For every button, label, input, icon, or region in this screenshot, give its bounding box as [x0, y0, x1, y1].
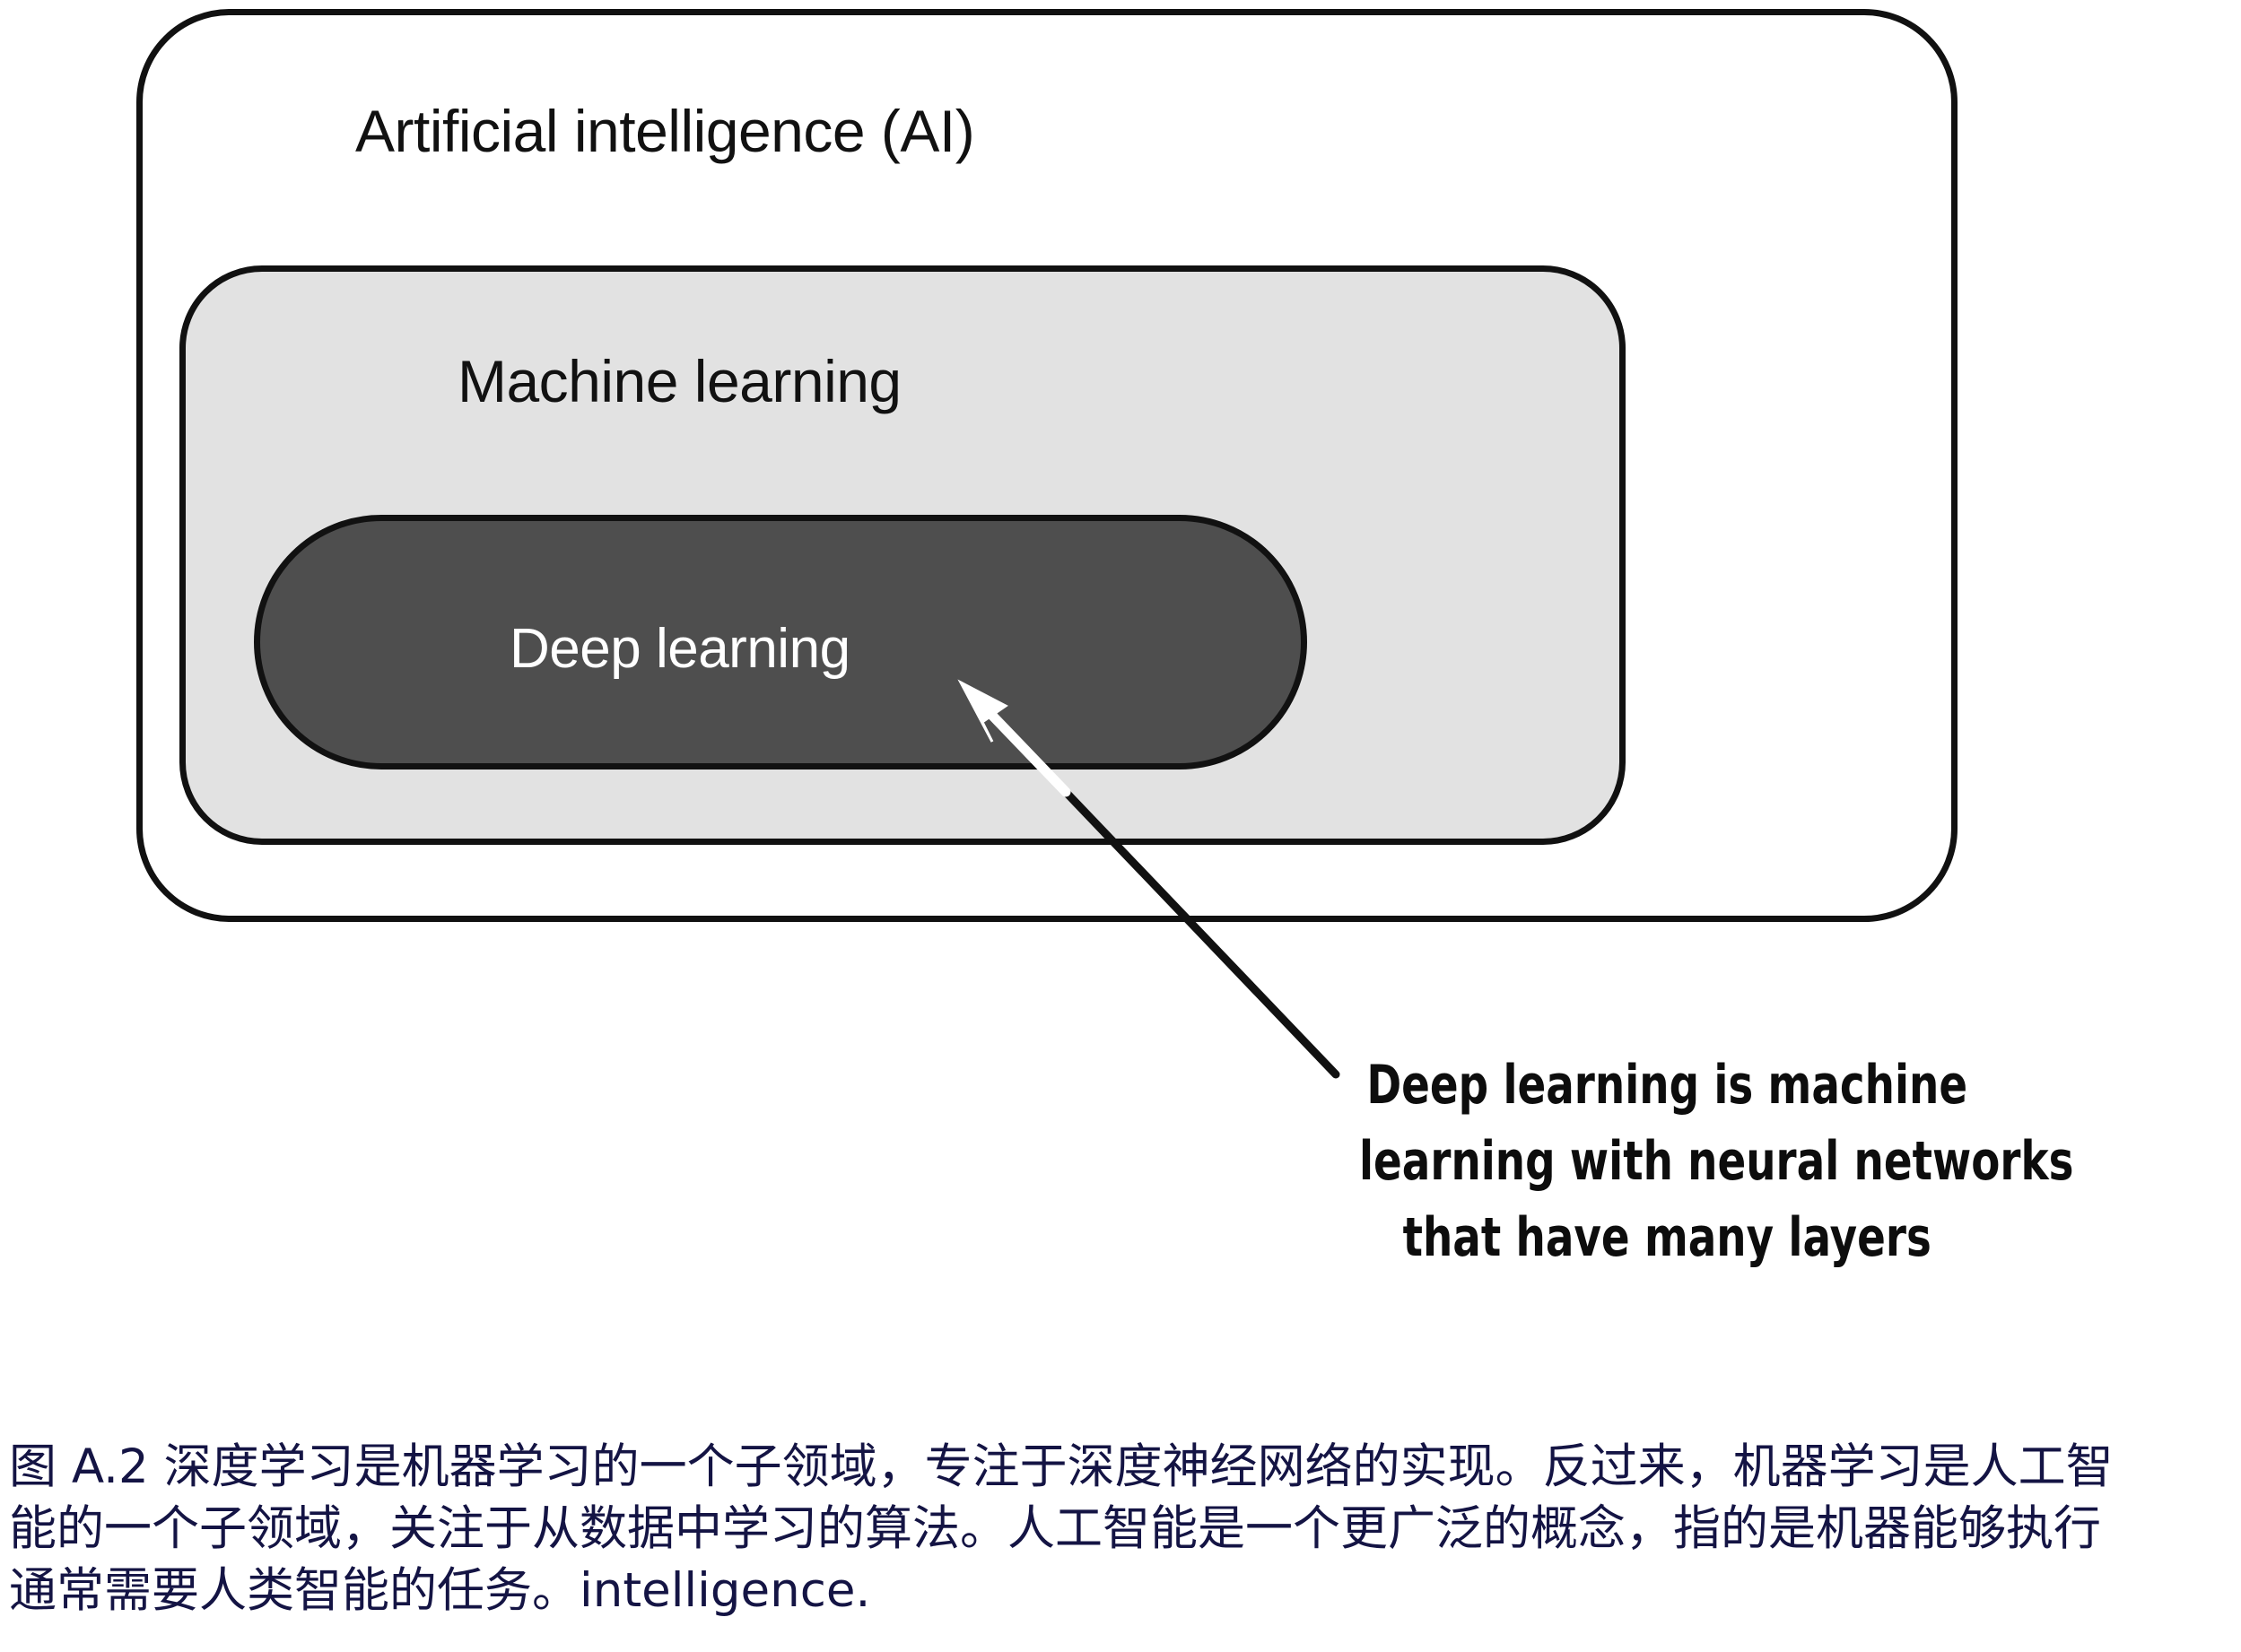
- figure-caption-line-1: 图 A.2 深度学习是机器学习的一个子领域，专注于深度神经网络的实现。反过来，机…: [9, 1437, 2241, 1499]
- callout-note-line-1: Deep learning is machine: [1359, 1048, 1975, 1124]
- label-deep-learning: Deep learning: [510, 617, 850, 681]
- callout-note-line-2: learning with neural networks: [1359, 1124, 1975, 1200]
- callout-note-line-3: that have many layers: [1359, 1200, 1975, 1276]
- figure-caption-line-3: 通常需要人类智能的任务。intelligence.: [9, 1561, 2241, 1622]
- label-machine-learning: Machine learning: [458, 347, 902, 415]
- nested-set-diagram: Artificial intelligence (AI) Machine lea…: [0, 0, 2241, 1345]
- figure-page: Artificial intelligence (AI) Machine lea…: [0, 0, 2241, 1652]
- figure-caption: 图 A.2 深度学习是机器学习的一个子领域，专注于深度神经网络的实现。反过来，机…: [9, 1437, 2241, 1622]
- label-artificial-intelligence: Artificial intelligence (AI): [355, 97, 974, 165]
- figure-caption-line-2: 能的一个子领域，关注于从数据中学习的算法。人工智能是一个更广泛的概念，指的是机器…: [9, 1499, 2241, 1561]
- callout-note: Deep learning is machine learning with n…: [1359, 1048, 1975, 1277]
